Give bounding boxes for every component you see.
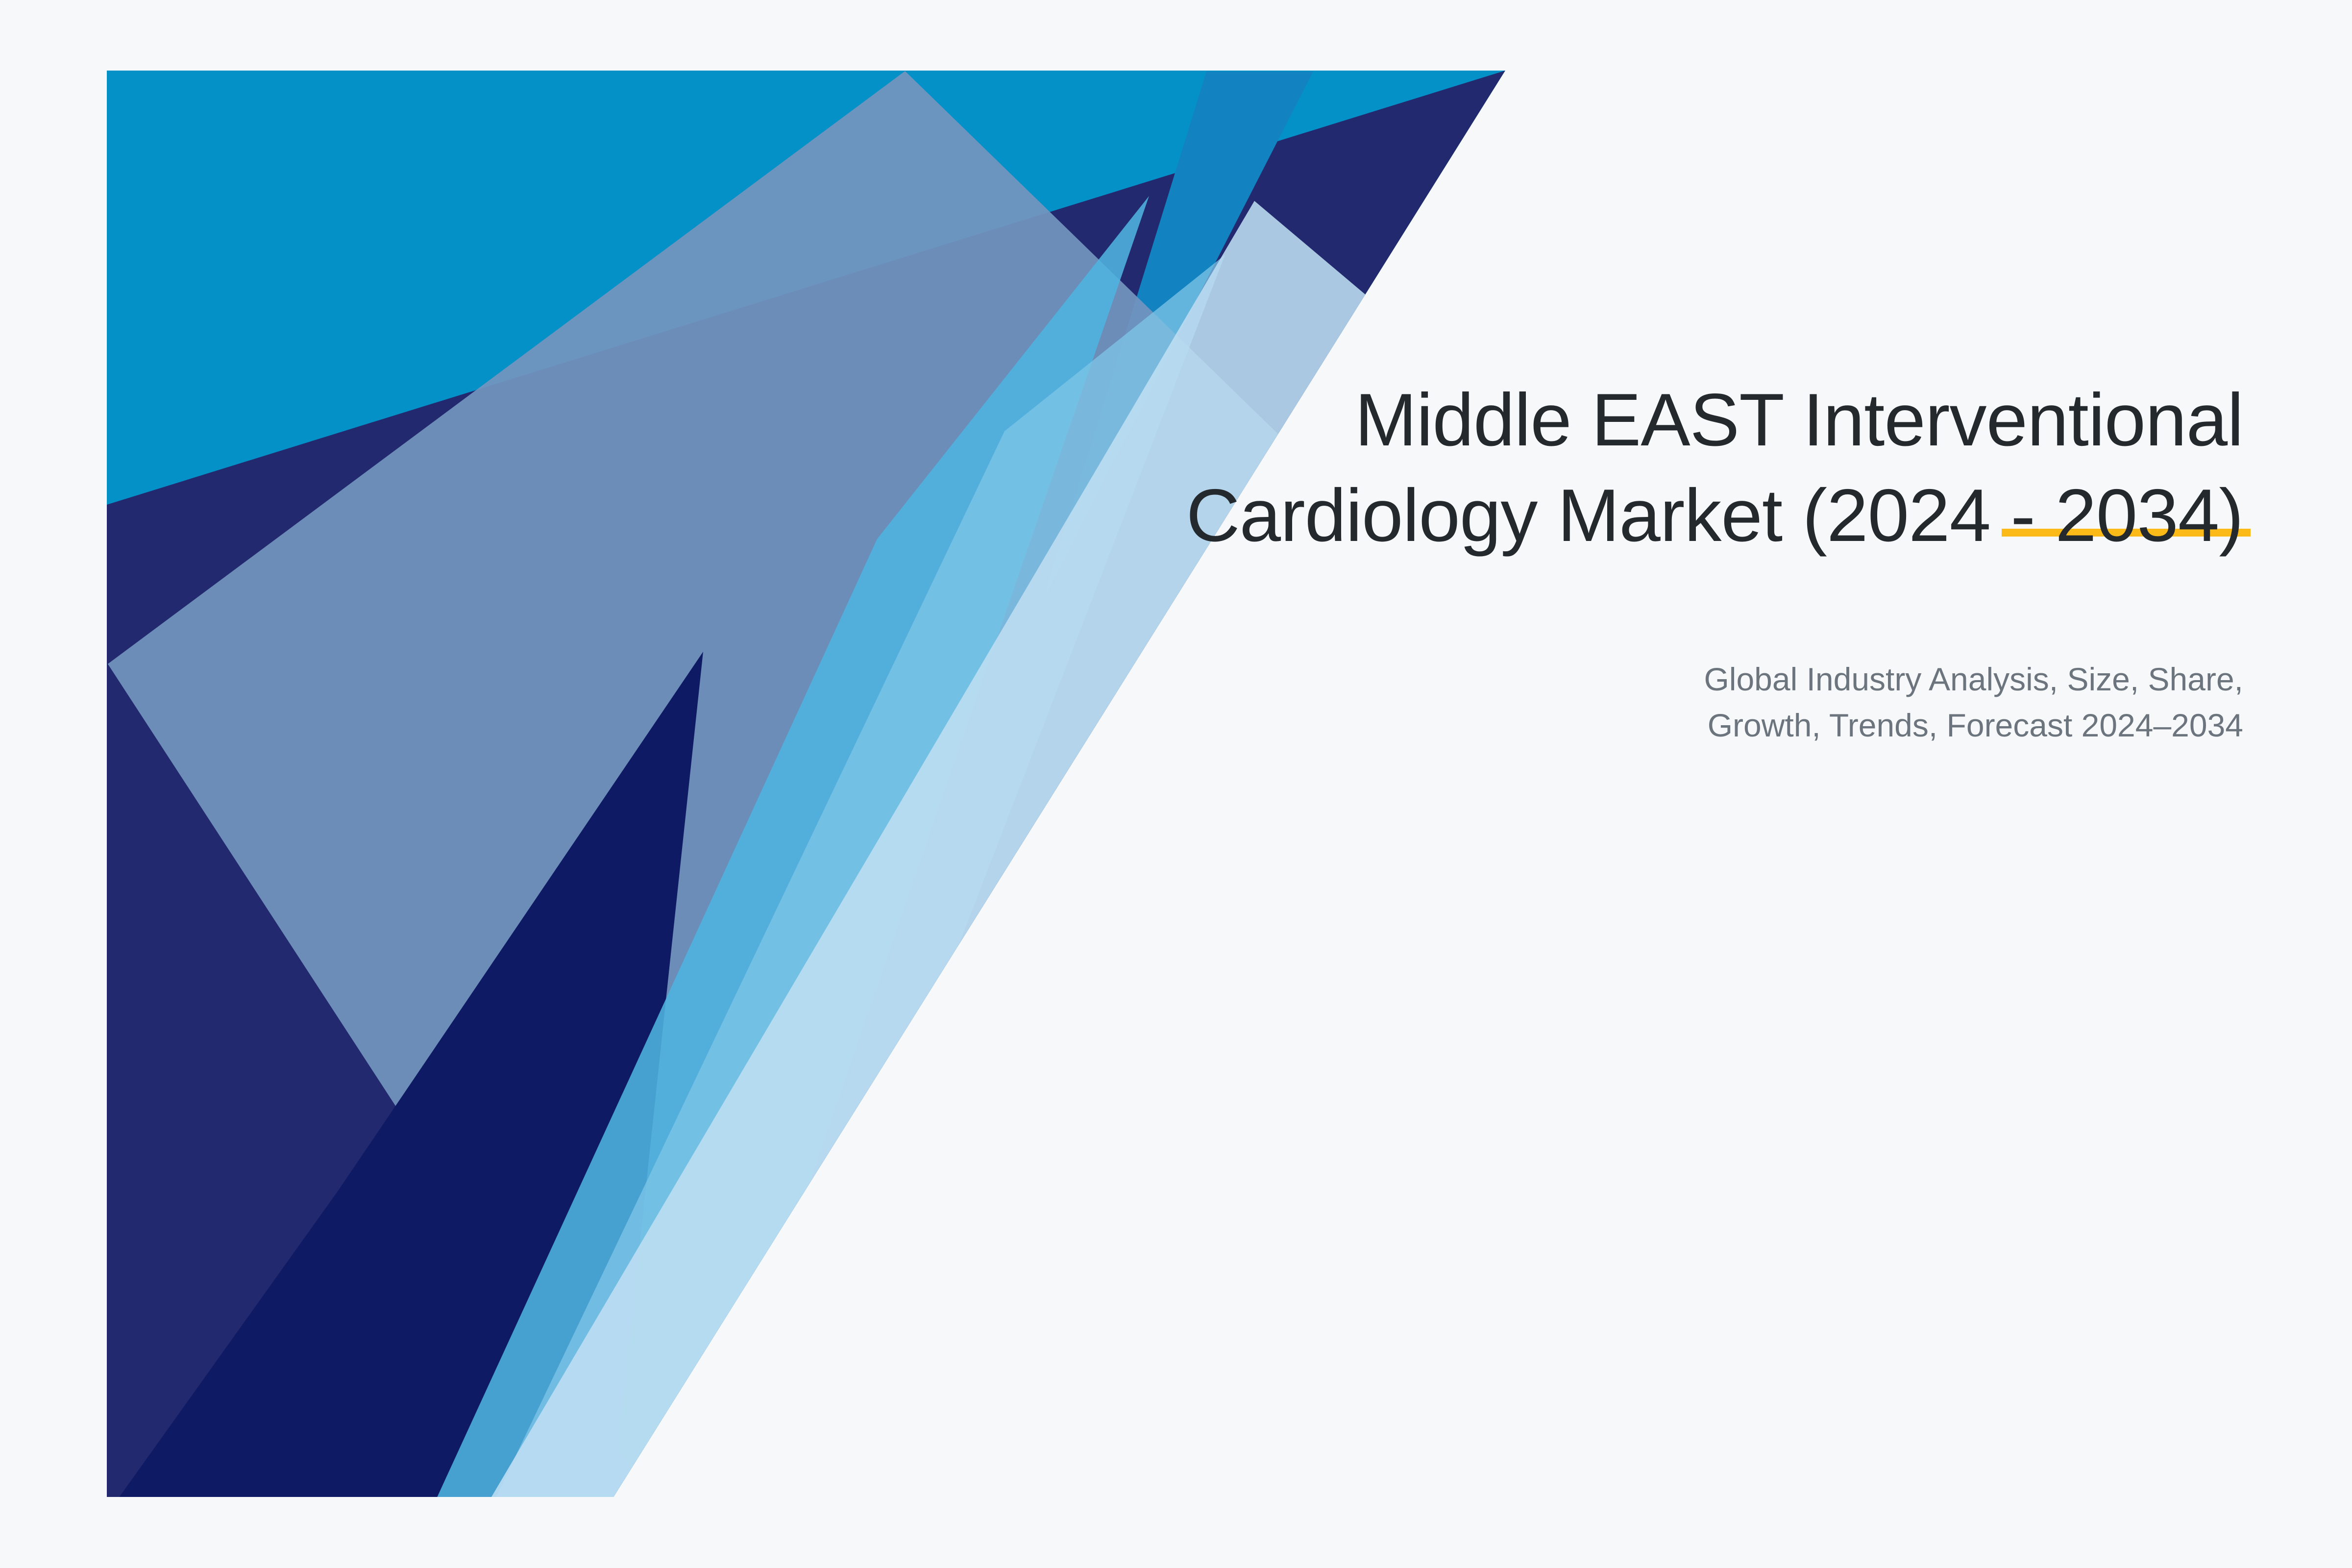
cover-text-block: Middle EAST Interventional Cardiology Ma… xyxy=(931,372,2243,563)
page-title: Middle EAST Interventional Cardiology Ma… xyxy=(931,372,2243,563)
abstract-polygon-artwork xyxy=(0,0,2352,1568)
cover-subtitle-block: Global Industry Analysis, Size, Share, G… xyxy=(1421,657,2243,748)
page-subtitle: Global Industry Analysis, Size, Share, G… xyxy=(1421,657,2243,748)
cover-page: Middle EAST Interventional Cardiology Ma… xyxy=(0,0,2352,1568)
